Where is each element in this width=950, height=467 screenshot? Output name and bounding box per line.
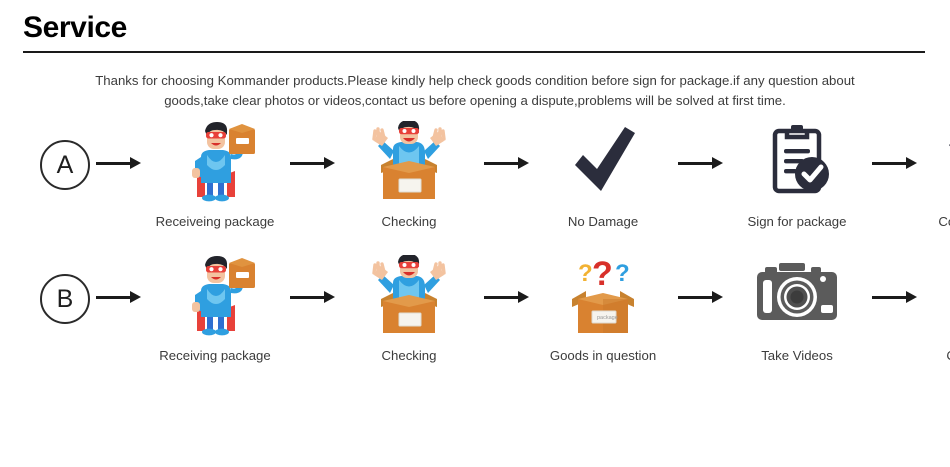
intro-line-2: goods,take clear photos or videos,contac… bbox=[32, 91, 918, 111]
flow-step-a3: No Damage bbox=[534, 121, 672, 231]
checkmark-icon bbox=[534, 121, 672, 205]
arrow-icon bbox=[284, 155, 340, 171]
clipboard-check-icon bbox=[728, 121, 866, 205]
flow-step-caption: Sign for package bbox=[748, 214, 847, 231]
intro-paragraph: Thanks for choosing Kommander products.P… bbox=[32, 71, 918, 112]
person-in-box-icon bbox=[340, 255, 478, 339]
svg-text:?: ? bbox=[615, 260, 630, 287]
flow-step-caption: Take Videos bbox=[761, 348, 833, 365]
flow-marker-b: B bbox=[40, 274, 90, 324]
title-divider bbox=[23, 51, 925, 53]
service-info-page: Service Thanks for choosing Kommander pr… bbox=[0, 0, 950, 467]
svg-text:?: ? bbox=[592, 255, 613, 293]
arrow-icon bbox=[90, 155, 146, 171]
flow-step-caption: Confirm problem, refund money bbox=[946, 348, 950, 382]
flow-step-a5: Confirm the delivery bbox=[922, 121, 950, 231]
support-agent-refund-icon: $ $ bbox=[922, 255, 950, 339]
svg-text:package: package bbox=[597, 315, 618, 321]
question-box-icon: ? ? ? package bbox=[534, 255, 672, 339]
flow-step-caption: Goods in question bbox=[550, 348, 656, 365]
arrow-icon bbox=[284, 289, 340, 305]
arrow-icon bbox=[672, 289, 728, 305]
superhero-delivery-icon bbox=[146, 121, 284, 205]
arrow-icon bbox=[866, 289, 922, 305]
page-title: Service bbox=[14, 0, 936, 48]
svg-text:?: ? bbox=[578, 260, 593, 287]
camera-icon bbox=[728, 255, 866, 339]
flow-step-b1: Receiving package bbox=[146, 255, 284, 365]
superhero-delivery-icon bbox=[146, 255, 284, 339]
flow-step-caption: Confirm the delivery bbox=[938, 214, 950, 231]
flow-step-a4: Sign for package bbox=[728, 121, 866, 231]
arrow-icon bbox=[672, 155, 728, 171]
flow-row-a: A bbox=[14, 121, 936, 231]
flow-marker-a: A bbox=[40, 140, 90, 190]
arrow-icon bbox=[478, 289, 534, 305]
flow-step-b4: Take Videos bbox=[728, 255, 866, 365]
flow-step-caption: No Damage bbox=[568, 214, 638, 231]
flow-row-b: B bbox=[14, 255, 936, 382]
flow-step-caption: Receiving package bbox=[159, 348, 270, 365]
flow-step-caption: Checking bbox=[382, 348, 437, 365]
intro-line-1: Thanks for choosing Kommander products.P… bbox=[32, 71, 918, 91]
flow-step-caption: Receiveing package bbox=[156, 214, 275, 231]
flow-step-b3: ? ? ? package Goods in question bbox=[534, 255, 672, 365]
flow-step-caption: Checking bbox=[382, 214, 437, 231]
arrow-icon bbox=[90, 289, 146, 305]
person-in-box-icon bbox=[340, 121, 478, 205]
flow-step-a2: Checking bbox=[340, 121, 478, 231]
arrow-icon bbox=[478, 155, 534, 171]
handshake-icon bbox=[922, 121, 950, 205]
arrow-icon bbox=[866, 155, 922, 171]
flow-step-b2: Checking bbox=[340, 255, 478, 365]
flow-step-a1: Receiveing package bbox=[146, 121, 284, 231]
flow-step-b5: $ $ bbox=[922, 255, 950, 382]
